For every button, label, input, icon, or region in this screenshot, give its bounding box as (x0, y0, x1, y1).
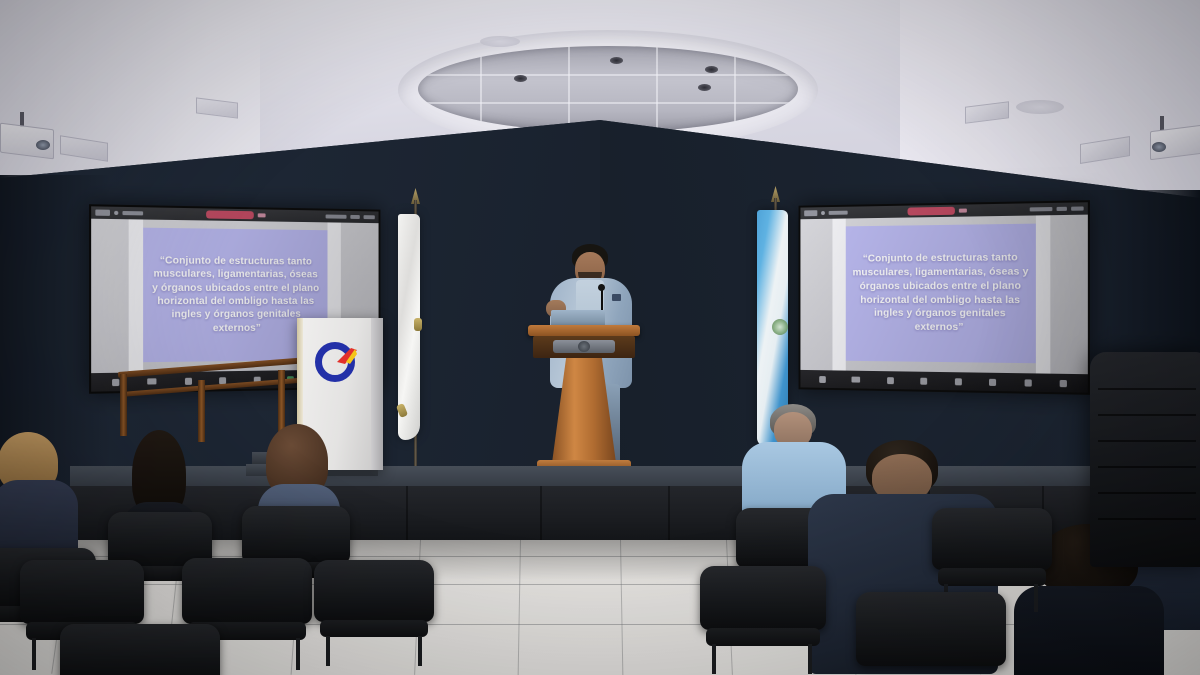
camera-icon[interactable] (852, 377, 861, 383)
stacked-chairs (1090, 352, 1200, 567)
chevron-down-icon[interactable] (114, 211, 118, 215)
meeting-menu-label[interactable] (122, 211, 143, 215)
camera-icon[interactable] (147, 378, 156, 384)
chevron-down-icon[interactable] (821, 211, 825, 215)
timer-label (326, 214, 347, 218)
projector-lens-icon (36, 140, 50, 150)
institution-logo (315, 342, 361, 388)
chair[interactable] (60, 624, 220, 675)
chat-icon[interactable] (921, 377, 928, 384)
microphone-icon[interactable] (112, 378, 119, 385)
record-icon[interactable] (1024, 379, 1031, 386)
chair[interactable] (314, 560, 434, 668)
participants-count-label[interactable] (1057, 207, 1067, 211)
view-switch-label[interactable] (1071, 206, 1084, 210)
microphone-icon[interactable] (819, 376, 826, 383)
chair[interactable] (700, 566, 826, 674)
app-logo-icon (95, 209, 110, 215)
ceiling-vent (480, 36, 520, 47)
ceiling-dome-tiles (418, 46, 798, 132)
recording-indicator (206, 210, 254, 219)
meeting-stage-right: “Conjunto de estructuras tanto musculare… (800, 215, 1087, 375)
app-logo-icon (804, 210, 817, 216)
slide-right: “Conjunto de estructuras tanto musculare… (846, 224, 1036, 364)
recording-stop-icon[interactable] (959, 209, 967, 213)
chair[interactable] (856, 592, 1006, 675)
lectern-side-edge (371, 318, 383, 470)
downlight-icon (610, 57, 623, 64)
speaker-pocket-square (612, 294, 621, 301)
projector-lens-icon (1152, 142, 1166, 152)
slide-text-right: “Conjunto de estructuras tanto musculare… (846, 251, 1036, 335)
recording-indicator (908, 207, 955, 216)
podium-plaque-emblem (578, 341, 590, 352)
timer-label (1030, 207, 1053, 211)
ceiling-vent (1016, 100, 1064, 114)
flag-coat-of-arms-icon (772, 319, 788, 335)
podium-desktop (528, 325, 640, 336)
handrail-post (120, 374, 127, 436)
share-screen-icon[interactable] (989, 378, 996, 385)
flag-tassel (414, 318, 422, 331)
meeting-menu-label[interactable] (829, 211, 848, 215)
conference-hall-photo: “Conjunto de estructuras tanto musculare… (0, 0, 1200, 675)
meeting-toolbar-right[interactable] (800, 370, 1087, 393)
downlight-icon (514, 75, 527, 82)
logo-arrow-icon (335, 348, 357, 364)
participants-icon[interactable] (185, 377, 192, 384)
recording-stop-icon[interactable] (258, 213, 266, 217)
participants-icon[interactable] (887, 377, 894, 384)
downlight-icon (698, 84, 711, 91)
more-options-icon[interactable] (1060, 379, 1067, 386)
downlight-icon (705, 66, 718, 73)
projector-mount-right (1160, 116, 1164, 130)
participants-count-label[interactable] (350, 215, 359, 219)
projection-screen-right[interactable]: “Conjunto de estructuras tanto musculare… (799, 200, 1090, 395)
podium-mic-head (598, 284, 605, 291)
reactions-icon[interactable] (955, 378, 962, 385)
view-switch-label[interactable] (364, 215, 375, 219)
